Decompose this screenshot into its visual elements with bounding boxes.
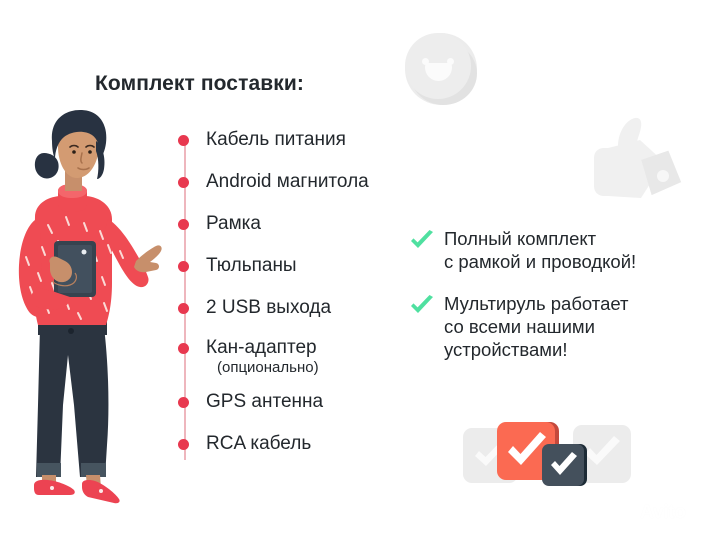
bullet-dot-icon	[178, 177, 189, 188]
feature-item-label: Мультируль работает со всеми нашими устр…	[444, 293, 629, 362]
list-item-label: Рамка	[206, 214, 261, 234]
avito-watermark-label: Avito	[640, 502, 686, 524]
feature-item-label: Полный комплект с рамкой и проводкой!	[444, 228, 636, 274]
bullet-dot-icon	[178, 397, 189, 408]
bullet-dot-icon	[178, 343, 189, 354]
list-item: GPS антенна	[178, 392, 323, 412]
green-check-icon	[408, 228, 436, 256]
bullet-dot-icon	[178, 439, 189, 450]
list-item: Кабель питания	[178, 130, 346, 150]
list-item-label: 2 USB выхода	[206, 298, 331, 318]
smiley-face-icon	[405, 33, 477, 105]
woman-pointing-with-tablet-illustration	[8, 105, 183, 505]
bullet-dot-icon	[178, 303, 189, 314]
green-check-icon	[408, 293, 436, 321]
thumbs-up-icon	[578, 110, 688, 218]
bullet-dot-icon	[178, 135, 189, 146]
list-item: RCA кабель	[178, 434, 311, 454]
list-item: 2 USB выхода	[178, 298, 331, 318]
feature-item: Мультируль работает со всеми нашими устр…	[408, 293, 629, 362]
avito-dots-logo-icon	[615, 500, 637, 527]
list-item: Тюльпаны	[178, 256, 297, 276]
feature-item: Полный комплект с рамкой и проводкой!	[408, 228, 636, 274]
list-item-label: Кабель питания	[206, 130, 346, 150]
avito-watermark: Avito	[615, 500, 713, 526]
list-item-label: RCA кабель	[206, 434, 311, 454]
list-item: Рамка	[178, 214, 261, 234]
checkbox-tiles-decoration	[463, 414, 628, 486]
list-item-label: GPS антенна	[206, 392, 323, 412]
product-listing-image: Комплект поставки: Кабель питания Androi…	[0, 0, 720, 540]
list-item: Android магнитола	[178, 172, 369, 192]
list-item-label: Android магнитола	[206, 172, 369, 192]
bullet-dot-icon	[178, 261, 189, 272]
list-item-label: Кан-адаптер	[206, 337, 317, 358]
list-item-sublabel: (опционально)	[217, 360, 319, 376]
checkbox-tile-navy	[542, 444, 584, 486]
list-item: Кан-адаптер (опционально)	[178, 338, 319, 376]
list-item-label: Тюльпаны	[206, 256, 297, 276]
bullet-dot-icon	[178, 219, 189, 230]
page-title: Комплект поставки:	[95, 72, 304, 96]
